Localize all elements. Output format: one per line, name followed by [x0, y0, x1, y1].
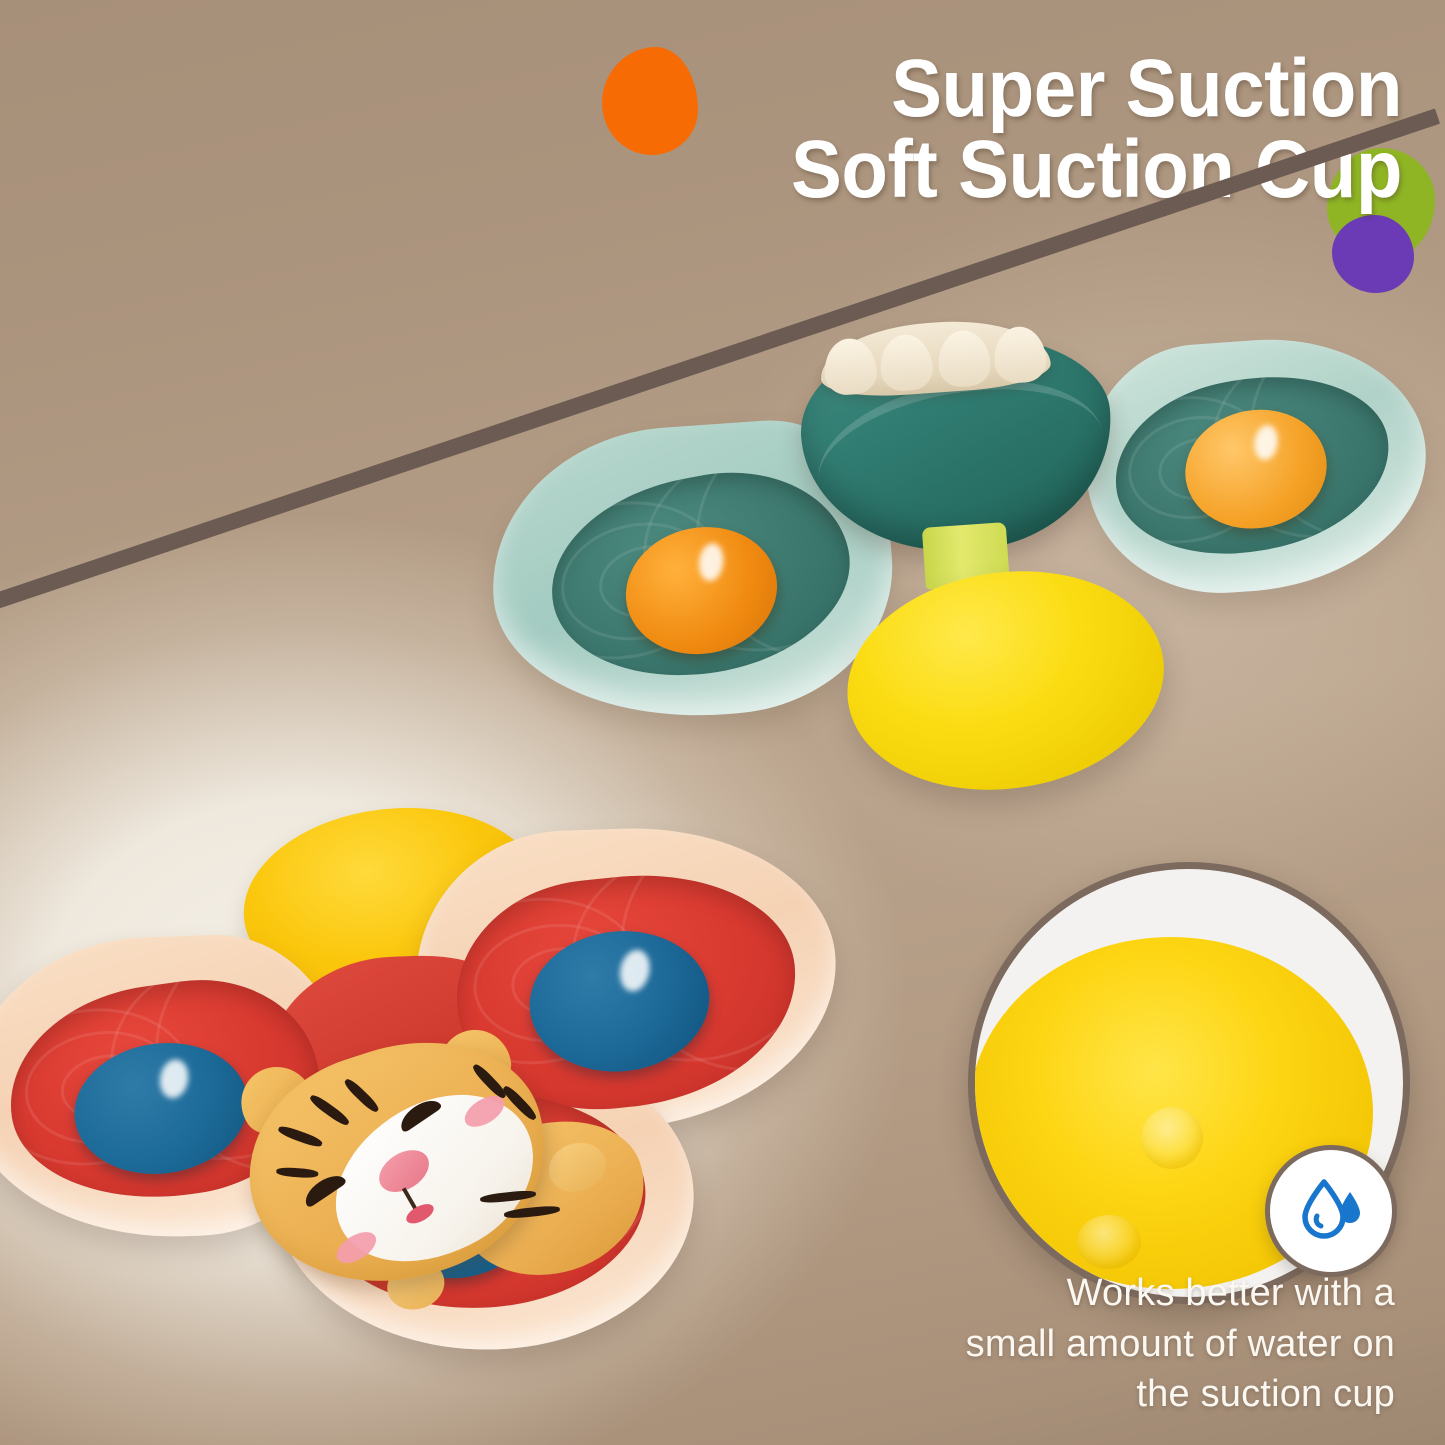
product-teal-butterfly-toy: [457, 287, 1444, 773]
promo-image-root: Super Suction Soft Suction Cup: [0, 0, 1445, 1445]
caption-text: Works better with a small amount of wate…: [880, 1268, 1395, 1420]
water-drop-icon: [1292, 1172, 1370, 1250]
decor-blob-purple: [1332, 215, 1414, 293]
water-drop-badge: [1265, 1145, 1397, 1277]
product-tiger-butterfly-toy: [0, 798, 959, 1393]
suction-bump: [1077, 1215, 1141, 1269]
suction-bump: [1141, 1107, 1203, 1169]
